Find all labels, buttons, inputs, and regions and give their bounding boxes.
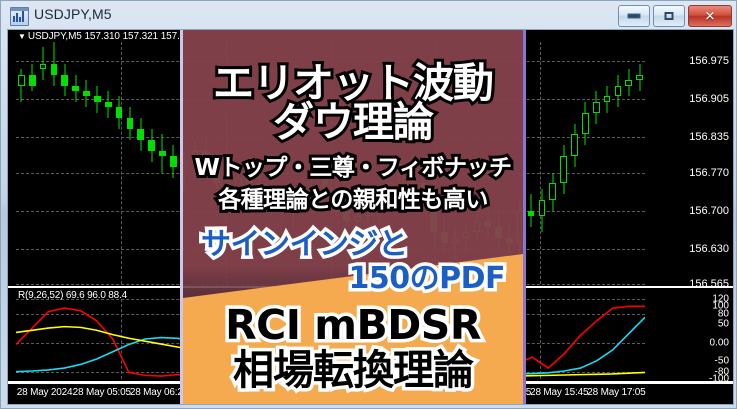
window-title: USDJPY,M5	[34, 6, 112, 22]
minimize-button[interactable]	[618, 5, 650, 27]
candlestick	[549, 42, 556, 284]
candlestick	[604, 42, 611, 284]
candlestick	[560, 42, 567, 284]
candlestick	[148, 42, 155, 284]
close-icon: ✕	[705, 10, 716, 23]
candlestick	[72, 42, 79, 284]
promo-line-4: 各種理論との親和性も高い	[183, 189, 523, 212]
promo-line-6: 150のPDF	[183, 264, 523, 294]
rci-tick: 50	[718, 319, 729, 330]
close-button[interactable]: ✕	[688, 5, 732, 27]
price-tick: 156.700	[689, 205, 729, 217]
price-tick: 156.975	[689, 55, 729, 67]
mt4-chart-window: USDJPY,M5 ✕ ▼USDJPY,M5 157.310 157.321 1…	[0, 0, 737, 409]
candlestick	[29, 42, 36, 284]
time-tick: 28 May 17:05	[587, 387, 645, 398]
minimize-icon	[628, 14, 641, 19]
candlestick	[636, 42, 643, 284]
candlestick	[593, 42, 600, 284]
candlestick	[105, 42, 112, 284]
promo-line-8: 相場転換理論	[183, 350, 523, 391]
promo-line-3: Wトップ・三尊・フィボナッチ	[183, 157, 523, 180]
window-controls: ✕	[618, 5, 732, 27]
rci-tick: 0.00	[710, 337, 729, 348]
rci-label: R(9,26,52) 69.6 96.0 88.4	[18, 290, 127, 301]
candlestick	[18, 42, 25, 284]
candlestick	[61, 42, 68, 284]
candlestick	[170, 42, 177, 284]
candlestick	[571, 42, 578, 284]
time-tick: 28 May 15:45	[530, 387, 588, 398]
candlestick	[625, 42, 632, 284]
candlestick	[127, 42, 134, 284]
chart-client-area[interactable]: ▼USDJPY,M5 157.310 157.321 157. 156.9751…	[7, 29, 734, 405]
price-tick: 156.630	[689, 243, 729, 255]
promo-line-7: RCI mBDSR	[183, 305, 523, 346]
price-tick: 156.905	[689, 93, 729, 105]
promo-line-2: ダウ理論	[183, 102, 523, 143]
rci-tick: -50	[715, 355, 729, 366]
chart-window-icon	[10, 7, 29, 26]
candlestick	[83, 42, 90, 284]
candlestick	[40, 42, 47, 284]
symbol-label-text: USDJPY,M5 157.310 157.321 157.	[28, 31, 180, 42]
candlestick	[137, 42, 144, 284]
candlestick	[582, 42, 589, 284]
candlestick	[116, 42, 123, 284]
price-tick: 156.835	[689, 131, 729, 143]
chevron-down-icon[interactable]: ▼	[18, 32, 26, 41]
rci-tick: 80	[718, 308, 729, 319]
candlestick	[51, 42, 58, 284]
candlestick	[159, 42, 166, 284]
symbol-label: ▼USDJPY,M5 157.310 157.321 157.	[18, 31, 180, 42]
maximize-button[interactable]	[653, 5, 685, 27]
candlestick	[528, 42, 535, 284]
price-tick: 156.770	[689, 167, 729, 179]
candlestick	[615, 42, 622, 284]
promo-line-5: サインインジと	[183, 230, 523, 260]
candlestick	[539, 42, 546, 284]
maximize-icon	[665, 12, 674, 20]
promo-text-block: エリオット波動 ダウ理論 Wトップ・三尊・フィボナッチ 各種理論との親和性も高い…	[183, 30, 523, 404]
price-chart[interactable]: ▼USDJPY,M5 157.310 157.321 157. 156.9751…	[8, 30, 733, 404]
title-bar: USDJPY,M5 ✕	[1, 1, 737, 29]
promo-overlay: エリオット波動 ダウ理論 Wトップ・三尊・フィボナッチ 各種理論との親和性も高い…	[180, 30, 526, 404]
time-tick: 28 May 2024	[17, 387, 73, 398]
candlestick	[94, 42, 101, 284]
time-tick: 28 May 05:05	[73, 387, 131, 398]
